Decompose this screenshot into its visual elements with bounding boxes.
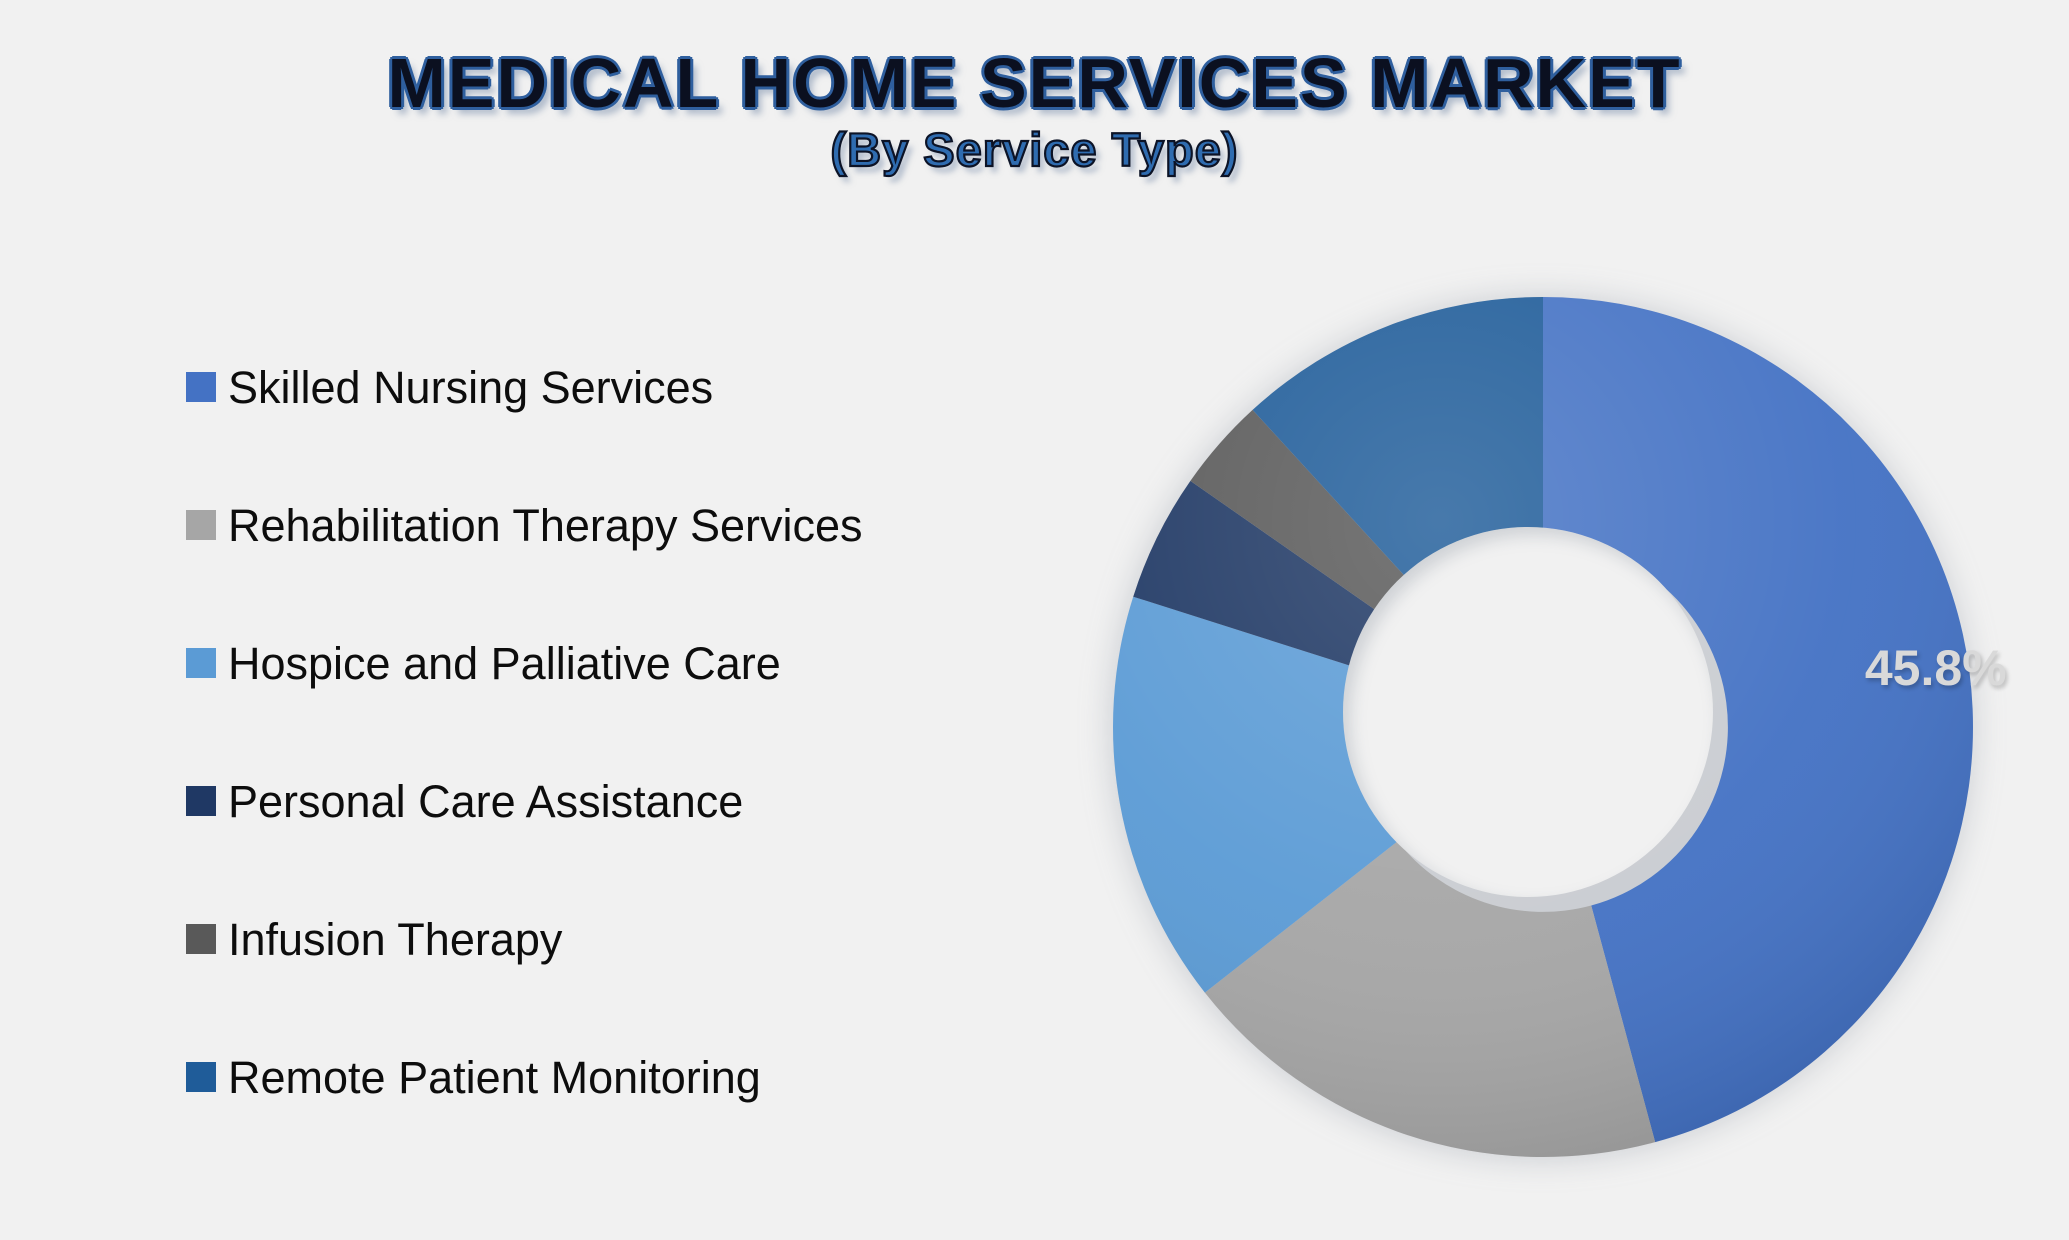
- chart-canvas: MEDICAL HOME SERVICES MARKET (By Service…: [0, 0, 2069, 1240]
- legend-swatch-icon: [186, 1062, 216, 1092]
- legend-item[interactable]: Hospice and Palliative Care: [186, 594, 1006, 732]
- legend-item[interactable]: Skilled Nursing Services: [186, 318, 1006, 456]
- legend-item[interactable]: Remote Patient Monitoring: [186, 1008, 1006, 1146]
- legend-item-label: Rehabilitation Therapy Services: [228, 503, 863, 548]
- title-block: MEDICAL HOME SERVICES MARKET (By Service…: [0, 48, 2069, 175]
- legend-swatch-icon: [186, 924, 216, 954]
- chart-legend: Skilled Nursing ServicesRehabilitation T…: [186, 318, 1006, 1146]
- legend-swatch-icon: [186, 786, 216, 816]
- page-subtitle: (By Service Type): [0, 125, 2069, 174]
- legend-item[interactable]: Infusion Therapy: [186, 870, 1006, 1008]
- page-title: MEDICAL HOME SERVICES MARKET: [0, 48, 2069, 119]
- donut-chart: 45.8%: [1098, 282, 1988, 1172]
- slice-percentage-label: 45.8%: [1865, 639, 2007, 697]
- legend-item-label: Hospice and Palliative Care: [228, 641, 781, 686]
- legend-item[interactable]: Rehabilitation Therapy Services: [186, 456, 1006, 594]
- legend-item-label: Personal Care Assistance: [228, 779, 743, 824]
- legend-swatch-icon: [186, 510, 216, 540]
- legend-swatch-icon: [186, 372, 216, 402]
- legend-item[interactable]: Personal Care Assistance: [186, 732, 1006, 870]
- legend-item-label: Infusion Therapy: [228, 917, 562, 962]
- donut-center-hole: [1343, 527, 1713, 897]
- legend-item-label: Remote Patient Monitoring: [228, 1055, 761, 1100]
- legend-item-label: Skilled Nursing Services: [228, 365, 713, 410]
- legend-swatch-icon: [186, 648, 216, 678]
